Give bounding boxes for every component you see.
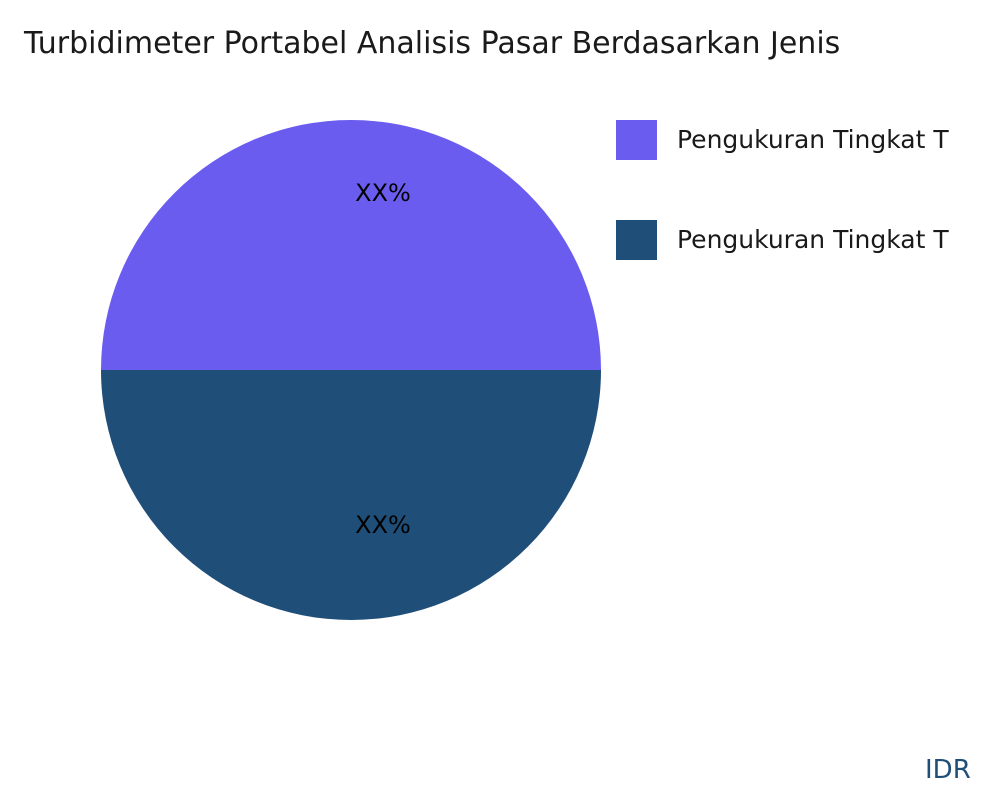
legend-item-label: Pengukuran Tingkat T [677, 125, 949, 155]
chart-legend: Pengukuran Tingkat T Pengukuran Tingkat … [616, 120, 1000, 320]
pie-plot-area: XX% XX% [101, 120, 601, 620]
pie-svg [101, 120, 601, 620]
pie-chart-figure: Turbidimeter Portabel Analisis Pasar Ber… [0, 0, 1000, 800]
chart-title: Turbidimeter Portabel Analisis Pasar Ber… [24, 24, 1000, 64]
currency-note: IDR [925, 755, 971, 785]
pie-slice-label-1: XX% [355, 181, 411, 205]
legend-item[interactable]: Pengukuran Tingkat T [616, 120, 1000, 160]
pie-slice-label-0: XX% [355, 513, 411, 537]
legend-item-label: Pengukuran Tingkat T [677, 225, 949, 255]
legend-color-swatch [616, 220, 657, 260]
pie-slice-1[interactable] [101, 370, 601, 620]
pie-slice-0[interactable] [101, 120, 601, 370]
legend-color-swatch [616, 120, 657, 160]
legend-item[interactable]: Pengukuran Tingkat T [616, 220, 1000, 260]
